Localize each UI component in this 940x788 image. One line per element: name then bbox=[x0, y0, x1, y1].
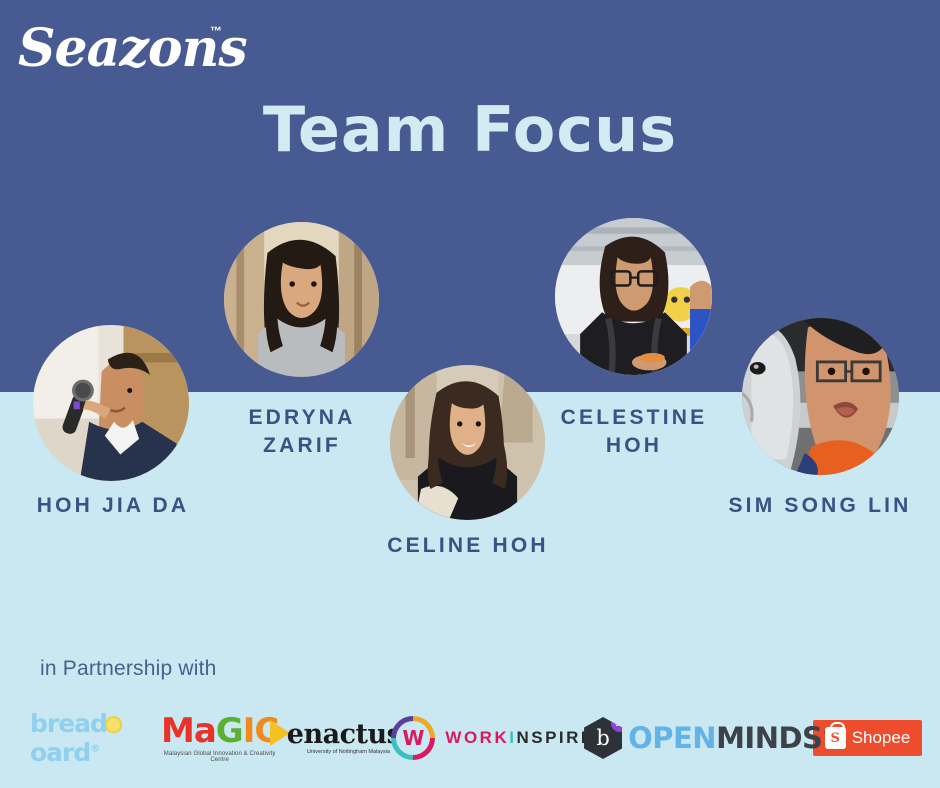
magic-tagline: Malaysian Global Innovation & Creativity… bbox=[159, 751, 280, 763]
avatar bbox=[33, 325, 189, 481]
brand-logo: Seazons ™ bbox=[18, 18, 238, 88]
magic-letter-a: a bbox=[194, 711, 216, 751]
shopping-bag-icon: S bbox=[825, 727, 846, 749]
poster-canvas: Seazons ™ Team Focus HOH JIA DA bbox=[0, 0, 940, 788]
workinspires-w-mark: W bbox=[402, 726, 424, 750]
openminds-badge: 99 bbox=[611, 715, 628, 732]
partnership-label: in Partnership with bbox=[40, 657, 217, 681]
photo-celestine-hoh bbox=[555, 218, 712, 375]
magic-letter-m: M bbox=[161, 711, 194, 751]
photo-sim-song-lin bbox=[742, 318, 899, 475]
shopee-s-mark: S bbox=[830, 731, 839, 746]
workinspires-circle-icon: W bbox=[391, 716, 435, 760]
trademark-icon: ™ bbox=[210, 24, 222, 38]
registered-icon: ® bbox=[90, 744, 99, 755]
member-name: HOH JIA DA bbox=[0, 492, 226, 520]
breadboard-text-left: bread bbox=[30, 709, 107, 738]
openminds-wordmark: OPENMINDS™ bbox=[628, 721, 831, 755]
avatar bbox=[742, 318, 899, 475]
partner-logo-shopee[interactable]: S Shopee bbox=[815, 708, 920, 768]
magic-letter-i: I bbox=[243, 711, 255, 751]
breadboard-text-right: oard bbox=[30, 738, 90, 767]
breadboard-wordmark: breadoard® bbox=[30, 709, 159, 767]
lightbulb-icon bbox=[105, 716, 122, 733]
member-name: CELINE HOH bbox=[347, 532, 589, 560]
avatar bbox=[224, 222, 379, 377]
magic-letter-g: G bbox=[216, 711, 243, 751]
partner-logo-magic[interactable]: MaGIC Malaysian Global Innovation & Crea… bbox=[159, 708, 280, 768]
page-title: Team Focus bbox=[0, 92, 940, 168]
magic-wordmark: MaGIC bbox=[159, 714, 280, 748]
shopee-wordmark: Shopee bbox=[852, 728, 911, 748]
openminds-part-minds: MINDS bbox=[716, 721, 822, 755]
partner-logo-breadboard[interactable]: breadoard® bbox=[30, 708, 159, 768]
photo-edryna-zarif bbox=[224, 222, 379, 377]
openminds-part-open: OPEN bbox=[628, 721, 716, 755]
openminds-b-mark: b bbox=[596, 726, 609, 750]
partner-logo-enactus[interactable]: enactus. University of Nottingham Malays… bbox=[280, 708, 400, 768]
partner-logo-workinspires[interactable]: W WORKINSPIRES bbox=[400, 708, 600, 768]
partner-logos-row: breadoard® MaGIC Malaysian Global Innova… bbox=[30, 707, 920, 769]
workinspires-part-work: WORK bbox=[445, 728, 509, 747]
partner-logo-openminds[interactable]: b 99 OPENMINDS™ bbox=[600, 708, 815, 768]
avatar bbox=[555, 218, 712, 375]
member-name: EDRYNA ZARIF bbox=[180, 404, 424, 460]
member-name: SIM SONG LIN bbox=[700, 492, 940, 520]
openminds-hex-icon: b 99 bbox=[584, 717, 622, 759]
photo-hoh-jia-da bbox=[33, 325, 189, 481]
brand-wordmark: Seazons bbox=[18, 18, 238, 80]
member-name: CELESTINE HOH bbox=[512, 404, 756, 460]
